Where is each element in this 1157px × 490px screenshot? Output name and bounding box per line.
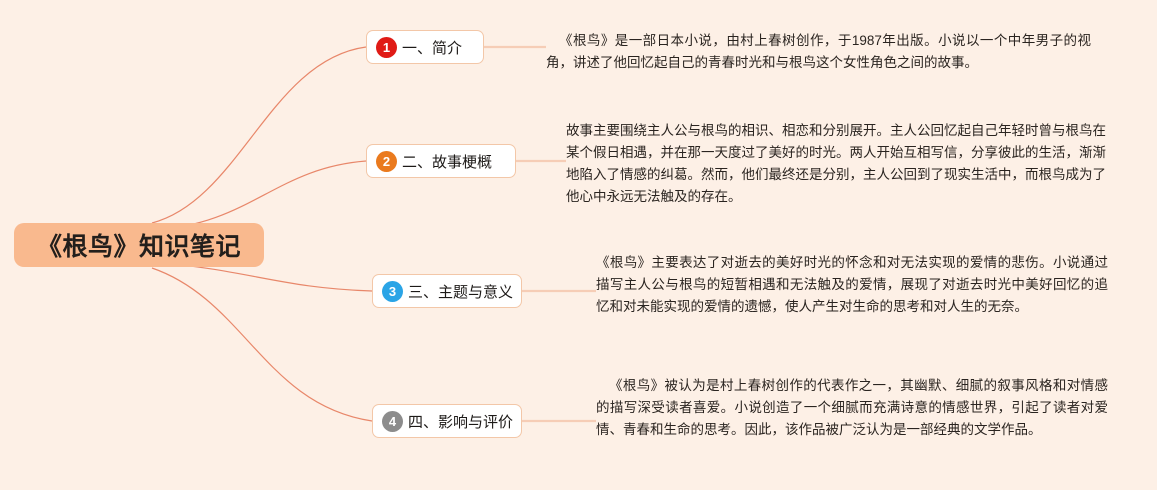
edge-root-to-node-1 — [152, 47, 366, 223]
branch-node-2[interactable]: 2 二、故事梗概 — [366, 144, 516, 178]
branch-node-1[interactable]: 1 一、简介 — [366, 30, 484, 64]
branch-node-label-2: 二、故事梗概 — [402, 151, 492, 172]
branch-node-label-4: 四、影响与评价 — [408, 411, 513, 432]
branch-number-badge-1: 1 — [376, 37, 397, 58]
branch-number-badge-3: 3 — [382, 281, 403, 302]
branch-number-badge-2: 2 — [376, 151, 397, 172]
branch-text-3: 《根鸟》主要表达了对逝去的美好时光的怀念和对无法实现的爱情的悲伤。小说通过描写主… — [596, 252, 1108, 318]
mindmap-canvas: 《根鸟》知识笔记 1 一、简介 《根鸟》是一部日本小说，由村上春树创作，于198… — [0, 0, 1157, 490]
branch-number-badge-4: 4 — [382, 411, 403, 432]
edge-root-to-node-2 — [152, 161, 366, 230]
branch-node-label-1: 一、简介 — [402, 37, 462, 58]
branch-node-3[interactable]: 3 三、主题与意义 — [372, 274, 522, 308]
root-node-label: 《根鸟》知识笔记 — [37, 227, 241, 263]
branch-text-4: 《根鸟》被认为是村上春树创作的代表作之一，其幽默、细腻的叙事风格和对情感的描写深… — [596, 375, 1108, 441]
branch-node-label-3: 三、主题与意义 — [408, 281, 513, 302]
branch-text-1: 《根鸟》是一部日本小说，由村上春树创作，于1987年出版。小说以一个中年男子的视… — [546, 30, 1091, 74]
edge-root-to-node-4 — [152, 268, 372, 421]
branch-node-4[interactable]: 4 四、影响与评价 — [372, 404, 522, 438]
branch-text-2: 故事主要围绕主人公与根鸟的相识、相恋和分别展开。主人公回忆起自己年轻时曾与根鸟在… — [566, 120, 1106, 208]
root-node[interactable]: 《根鸟》知识笔记 — [14, 223, 264, 267]
